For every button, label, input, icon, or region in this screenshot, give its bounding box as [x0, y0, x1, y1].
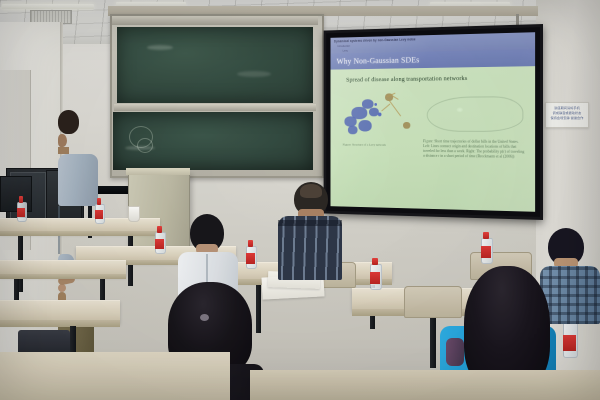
front-desk-right: [250, 370, 600, 400]
chalkboard-upper-panel: [117, 27, 313, 103]
audience-striped-shirt-man: [278, 182, 344, 280]
ceiling-light-1: [2, 4, 94, 9]
lecture-hall-photo: 讲座期间请将手机 调成静音或振动状态 保持会场安静 谢谢合作 Dynamical…: [0, 0, 600, 400]
sign-line-3: 保持会场安静 谢谢合作: [548, 116, 586, 121]
figure-caption-left: Figure: Structure of a Levy network: [343, 143, 422, 148]
desk-edge-a: [0, 231, 160, 236]
chalkboard-rail-middle: [114, 104, 316, 111]
presenter-hand: [58, 284, 66, 292]
chalkboard-lower-panel: [113, 112, 313, 170]
water-bottle-6: [481, 232, 491, 262]
presenter-neck: [58, 147, 69, 154]
side-monitor: [0, 176, 32, 212]
network-graph-figure: [343, 91, 420, 141]
water-bottle-2: [17, 196, 25, 220]
slide-surface: Dynamical systems driven by non-Gaussian…: [331, 32, 536, 212]
slide-nav-item-2: Levy: [343, 48, 348, 52]
water-bottle-1: [95, 198, 103, 222]
lectern-top: [126, 168, 190, 175]
presenter-shirt: [58, 154, 98, 206]
hair-clip: [200, 314, 209, 321]
desk-edge-d: [0, 320, 120, 327]
water-bottle-3: [155, 226, 164, 252]
slide-title: Why Non-Gaussian SDEs: [337, 55, 420, 66]
figure-caption-right: Figure: Short time trajectories of dolla…: [423, 139, 525, 160]
projection-screen[interactable]: Dynamical systems driven by non-Gaussian…: [324, 24, 543, 220]
chalkboard-rail-top: [112, 16, 318, 25]
presenter-face: [58, 134, 67, 147]
presenter-head: [58, 110, 79, 134]
paper-cup: [128, 206, 140, 222]
water-bottle-4: [246, 240, 255, 267]
water-bottle-5: [370, 258, 380, 288]
us-map-figure: [423, 90, 527, 138]
front-desk-left: [0, 352, 230, 400]
wall-notice-sign: 讲座期间请将手机 调成静音或振动状态 保持会场安静 谢谢合作: [545, 102, 589, 128]
sign-line-2: 调成静音或振动状态: [548, 111, 586, 116]
shoulder-strap: [446, 338, 464, 366]
